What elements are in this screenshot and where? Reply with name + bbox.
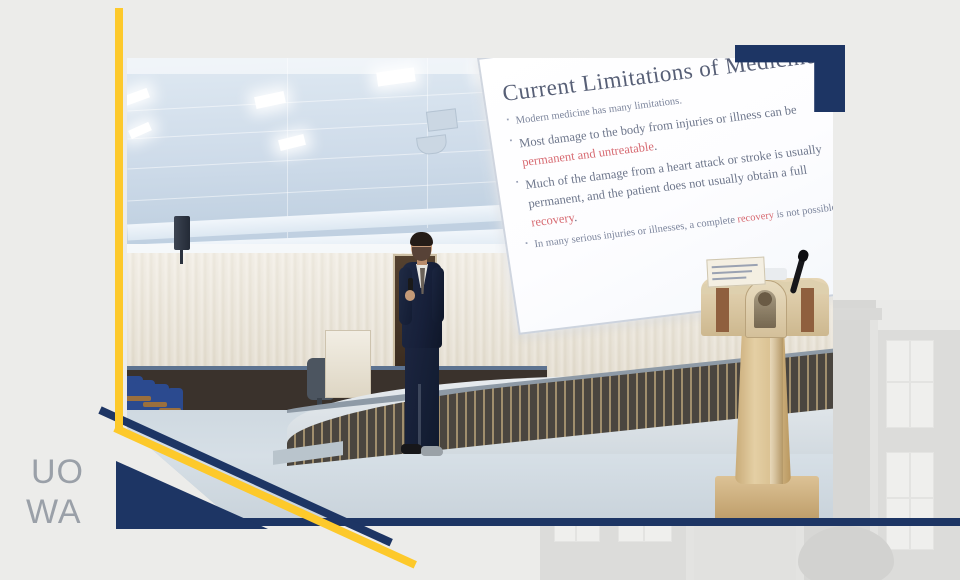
seat-armrest [127,396,151,401]
presenter-leg-split [418,384,421,446]
uowa-logo-line-1: UO [31,452,118,492]
slide-highlight: recovery [530,210,575,229]
podium-emblem [745,280,787,338]
watermark-window [886,452,934,550]
ceiling-vent [426,108,458,132]
podium-stem [735,334,791,484]
wall-loudspeaker [174,216,190,250]
photo-content: Current Limitations of Medicine Modern m… [127,58,833,526]
presenter-shoe [421,446,443,456]
presenter-beard [412,247,431,261]
podium-inlay-stripe [716,288,729,332]
presenter-hair [410,232,433,246]
presenter-shoe [401,444,423,454]
lecture-photo: Current Limitations of Medicine Modern m… [127,58,833,526]
presenter-right-arm [432,267,444,323]
uowa-logo-line-2: WA [26,492,118,532]
podium-inlay-stripe [801,288,814,332]
yellow-vertical-accent [115,8,123,432]
ceiling-light [278,134,306,151]
podium [701,254,829,526]
stage-table [325,330,371,398]
slide-highlight: recovery [737,209,775,224]
podium-name-plate [706,257,765,288]
ceiling-light [127,88,150,106]
presenter-legs [405,344,439,448]
watermark-window [886,340,934,428]
presenter [399,234,445,466]
presenter-hand [405,290,415,301]
ceiling-light [254,91,286,109]
uowa-logo: UO WA [26,452,118,536]
seat-armrest [143,402,167,407]
banner-canvas: Current Limitations of Medicine Modern m… [0,0,960,580]
slide-bullet-list: Modern medicine has many limitations. Mo… [506,74,833,253]
